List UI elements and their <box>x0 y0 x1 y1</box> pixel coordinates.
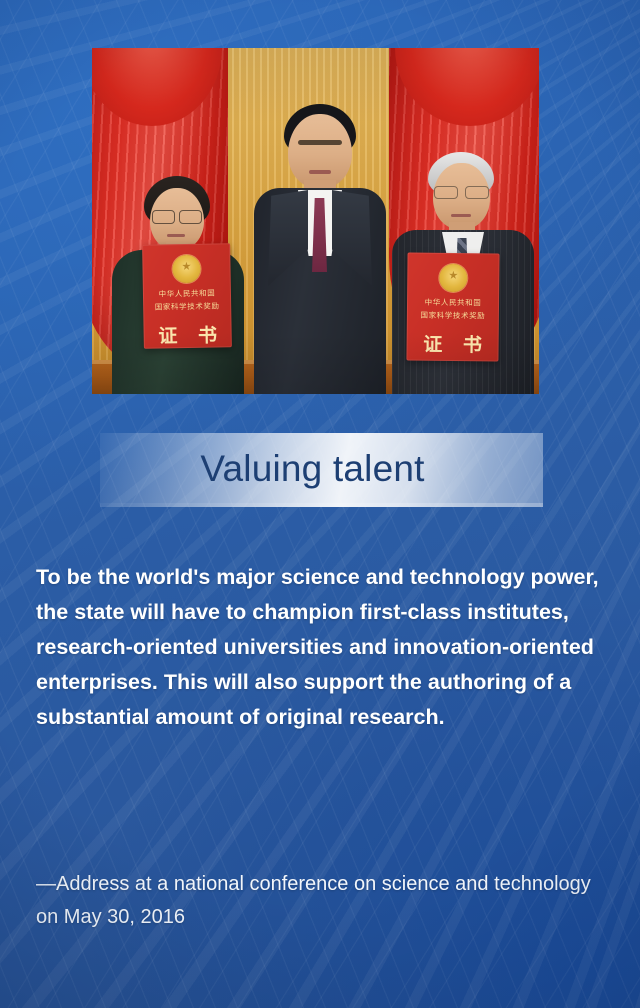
national-emblem-icon <box>172 255 200 283</box>
person-presenting-official <box>246 104 394 394</box>
mouth <box>451 214 471 217</box>
certificate-line1: 中华人民共和国 <box>159 288 216 300</box>
national-emblem-icon <box>439 264 467 292</box>
certificate-line2: 国家科学技术奖励 <box>155 300 220 312</box>
certificate-line2: 国家科学技术奖励 <box>420 310 485 322</box>
drape-valance <box>92 48 539 80</box>
quote-attribution: —Address at a national conference on sci… <box>36 868 612 934</box>
certificate-title: 证 书 <box>151 320 224 348</box>
quote-poster-card: 中华人民共和国 国家科学技术奖励 证 书 中华人民共和国 国家科学技术奖励 证 … <box>0 0 640 1008</box>
mouth <box>309 170 331 174</box>
quote-text: To be the world's major science and tech… <box>36 560 612 735</box>
certificate-title: 证 书 <box>416 330 489 358</box>
certificate-left: 中华人民共和国 国家科学技术奖励 证 书 <box>142 243 232 349</box>
certificate-right: 中华人民共和国 国家科学技术奖励 证 书 <box>406 253 499 362</box>
title-banner: Valuing talent <box>100 433 543 507</box>
mouth <box>167 234 185 237</box>
award-ceremony-photo: 中华人民共和国 国家科学技术奖励 证 书 中华人民共和国 国家科学技术奖励 证 … <box>92 48 539 394</box>
certificate-line1: 中华人民共和国 <box>425 297 482 309</box>
eyeglasses-icon <box>150 210 204 222</box>
face <box>288 114 352 188</box>
page-title: Valuing talent <box>200 448 442 490</box>
brow <box>298 140 342 145</box>
eyeglasses-icon <box>433 186 490 197</box>
